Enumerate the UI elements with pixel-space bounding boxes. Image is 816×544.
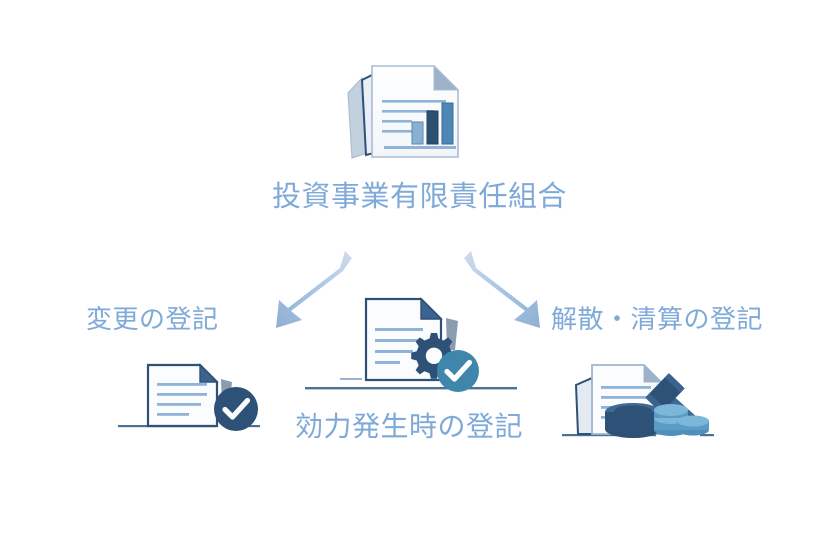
document-with-pen-and-check-icon [118, 365, 260, 431]
diagram-graphics [0, 0, 816, 544]
arrow-down-right [464, 251, 540, 328]
diagram-canvas: 投資事業有限責任組合 変更の登記 効力発生時の登記 解散・清算の登記 [0, 0, 816, 544]
document-with-gear-and-check-icon [305, 299, 517, 392]
page-title: 投資事業有限責任組合 [272, 182, 567, 211]
documents-with-bar-chart-icon [348, 66, 458, 158]
branch-label-left: 変更の登記 [86, 307, 219, 333]
coins-stack [654, 404, 709, 436]
arrow-down-left [276, 251, 352, 328]
branch-label-right: 解散・清算の登記 [551, 307, 763, 333]
center-baseline [305, 387, 517, 389]
branch-label-center: 効力発生時の登記 [295, 413, 523, 441]
document-with-gavel-and-coins-icon [562, 365, 714, 438]
